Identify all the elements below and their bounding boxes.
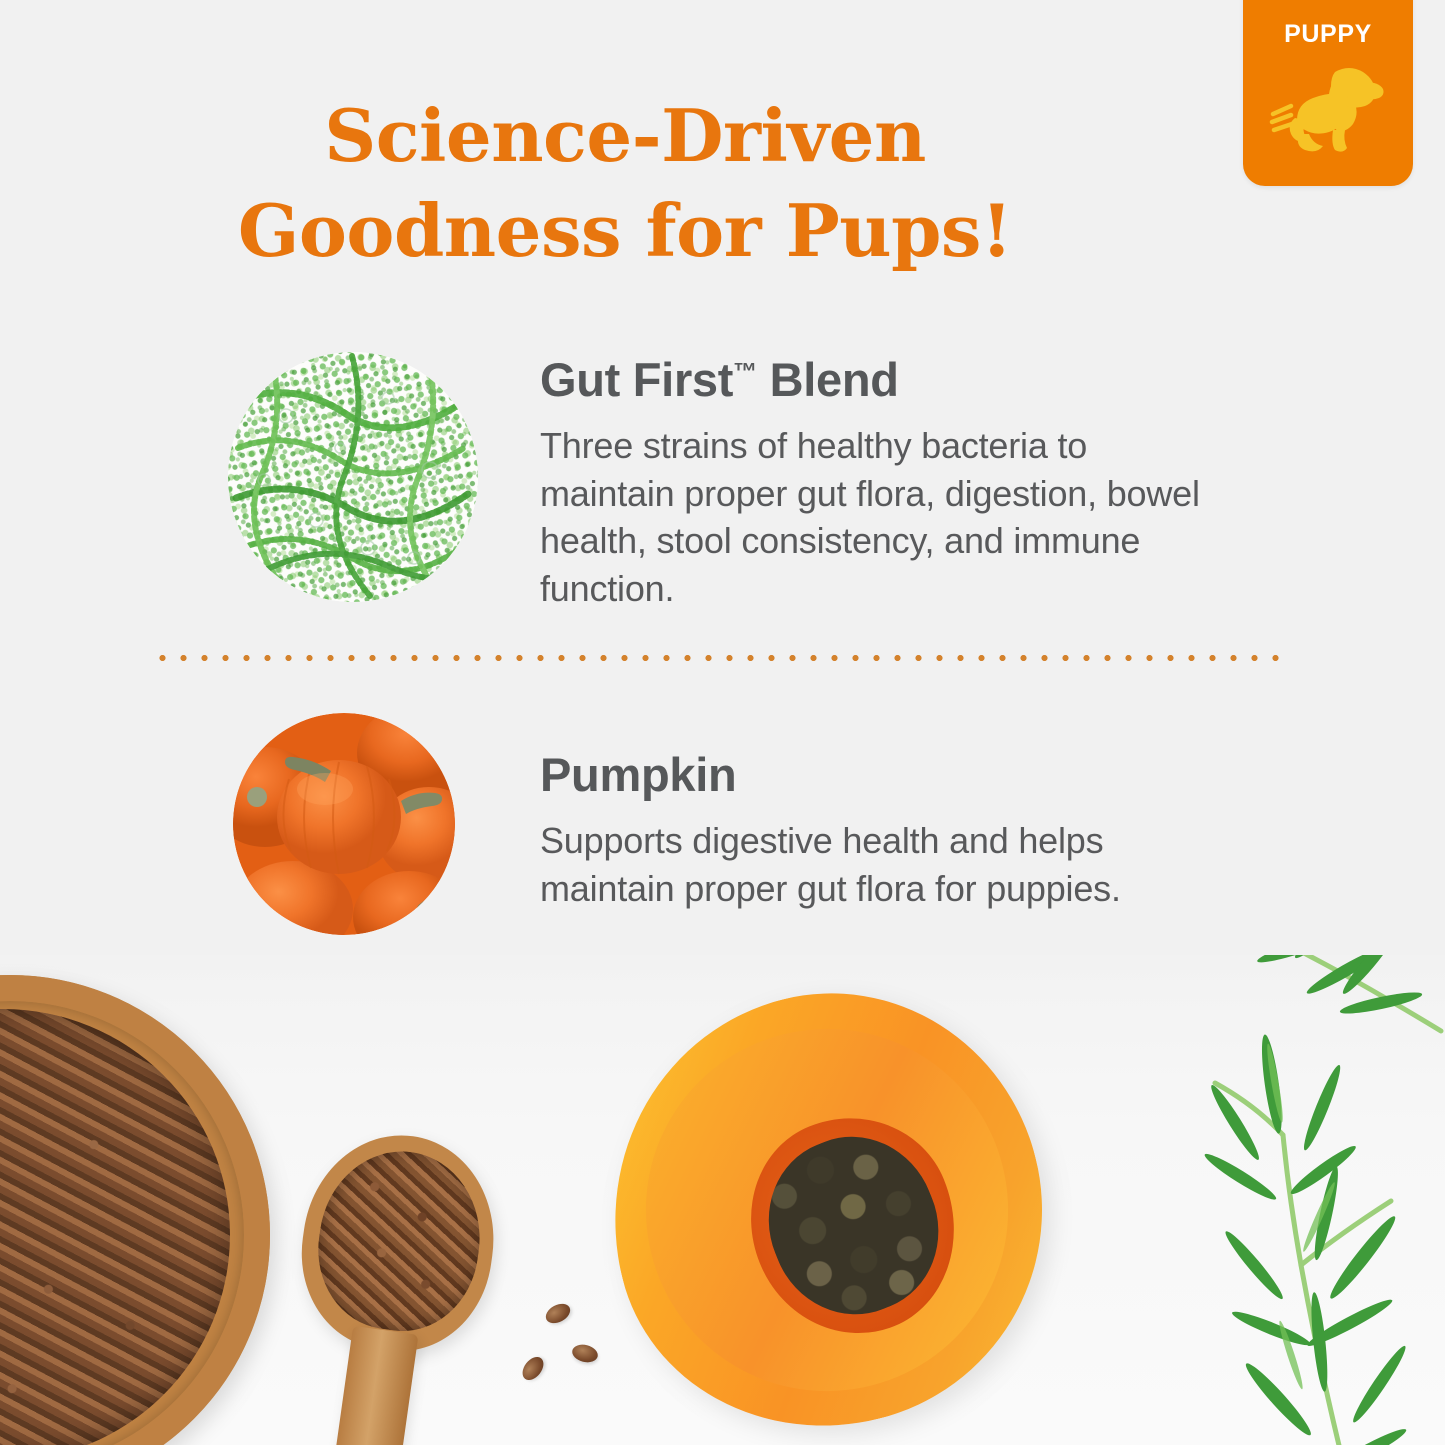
papaya-flesh [608, 991, 1046, 1429]
page-title: Science-Driven Goodness for Pups! [0, 88, 1250, 278]
papaya-cavity [719, 1087, 988, 1364]
pumpkins-photo [233, 713, 455, 935]
headline-line-1: Science-Driven [0, 88, 1250, 183]
trademark-symbol: ™ [733, 358, 757, 385]
feature-description: Supports digestive health and helps main… [540, 817, 1220, 913]
spoon-bowl [289, 1123, 507, 1362]
dotted-divider [152, 652, 1292, 664]
rosemary-sprigs [1105, 965, 1445, 1445]
rosemary-sprig-top [1205, 955, 1445, 1035]
puppy-dog-icon [1269, 58, 1387, 158]
feature-title-main: Gut First [540, 353, 733, 406]
papaya-half [566, 955, 1087, 1445]
ingredient-photo-strip [0, 955, 1445, 1445]
papaya-seeds [743, 1112, 963, 1339]
headline-line-2: Goodness for Pups! [0, 183, 1250, 278]
infographic-page: PUPPY [0, 0, 1445, 1445]
feature-title-suffix: Blend [757, 353, 899, 406]
flaxseed-spoon [283, 1123, 507, 1407]
feature-title: Gut First™ Blend [540, 354, 1278, 406]
feature-title: Pumpkin [540, 749, 1283, 801]
feature-pumpkin: Pumpkin Supports digestive health and he… [233, 713, 1283, 935]
bowl-rim [0, 975, 270, 1445]
feature-description: Three strains of healthy bacteria to mai… [540, 422, 1220, 614]
feature-gut-first-blend: Gut First™ Blend Three strains of health… [228, 352, 1278, 613]
puppy-badge-label: PUPPY [1243, 20, 1413, 49]
bacteria-microscope-icon [228, 352, 478, 602]
feature-title-main: Pumpkin [540, 748, 736, 801]
feature-text-block: Pumpkin Supports digestive health and he… [455, 713, 1283, 912]
feature-text-block: Gut First™ Blend Three strains of health… [478, 352, 1278, 613]
spoon-handle [331, 1326, 419, 1445]
puppy-badge: PUPPY [1243, 0, 1413, 186]
flaxseed-bowl [0, 975, 270, 1445]
